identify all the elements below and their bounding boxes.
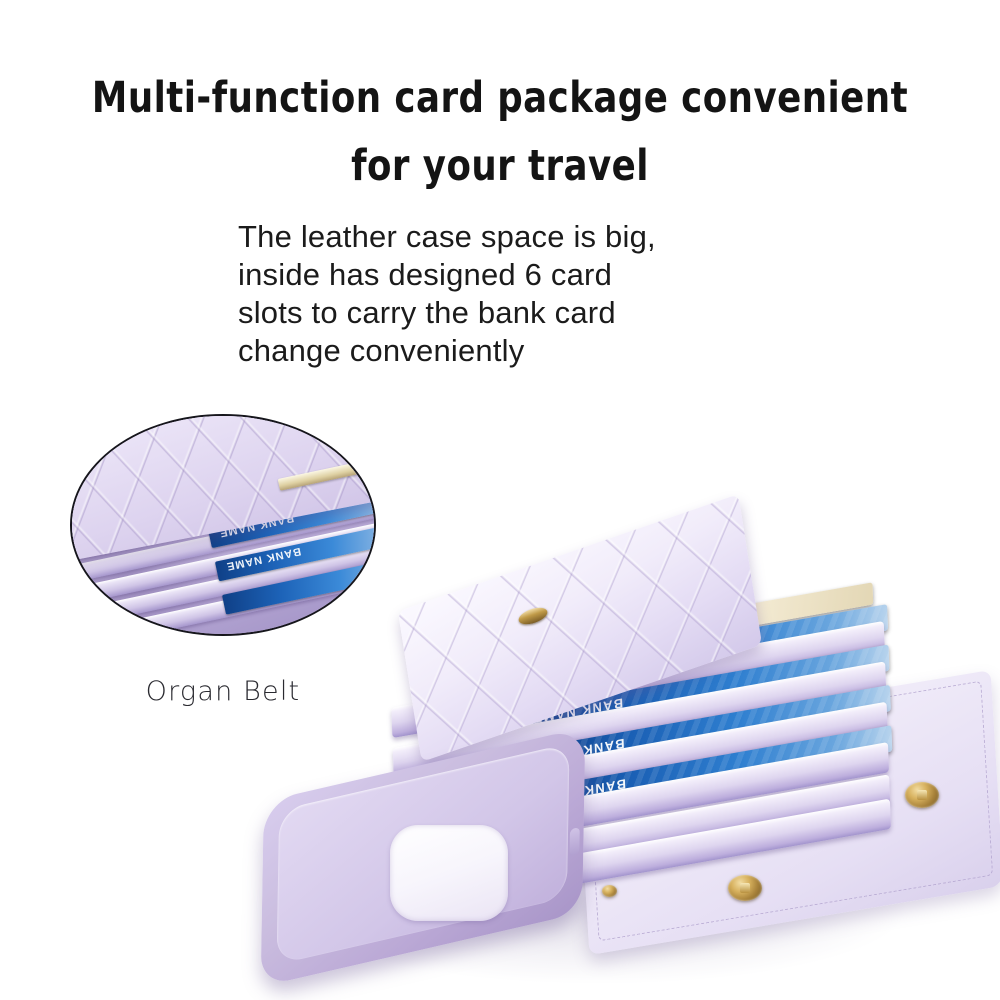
camera-cutout bbox=[390, 825, 508, 921]
product-photo: BANK NAME BANK NAME BANK NAME BANK NAME bbox=[250, 545, 1000, 1000]
description-line-3: slots to carry the bank card bbox=[238, 294, 798, 332]
product-description: The leather case space is big, inside ha… bbox=[238, 218, 798, 370]
page-title-line-1: Multi-function card package convenient bbox=[40, 72, 960, 124]
description-line-1: The leather case space is big, bbox=[238, 218, 798, 256]
description-line-4: change conveniently bbox=[238, 332, 798, 370]
product-detail-page: Multi-function card package convenient f… bbox=[0, 0, 1000, 1000]
page-title-line-2: for your travel bbox=[40, 140, 960, 192]
snap-button-icon bbox=[905, 782, 939, 808]
case-side-button bbox=[570, 827, 580, 856]
page-title: Multi-function card package convenient f… bbox=[40, 72, 960, 192]
description-line-2: inside has designed 6 card bbox=[238, 256, 798, 294]
snap-button-icon bbox=[728, 875, 762, 901]
snap-button-icon bbox=[602, 885, 617, 897]
